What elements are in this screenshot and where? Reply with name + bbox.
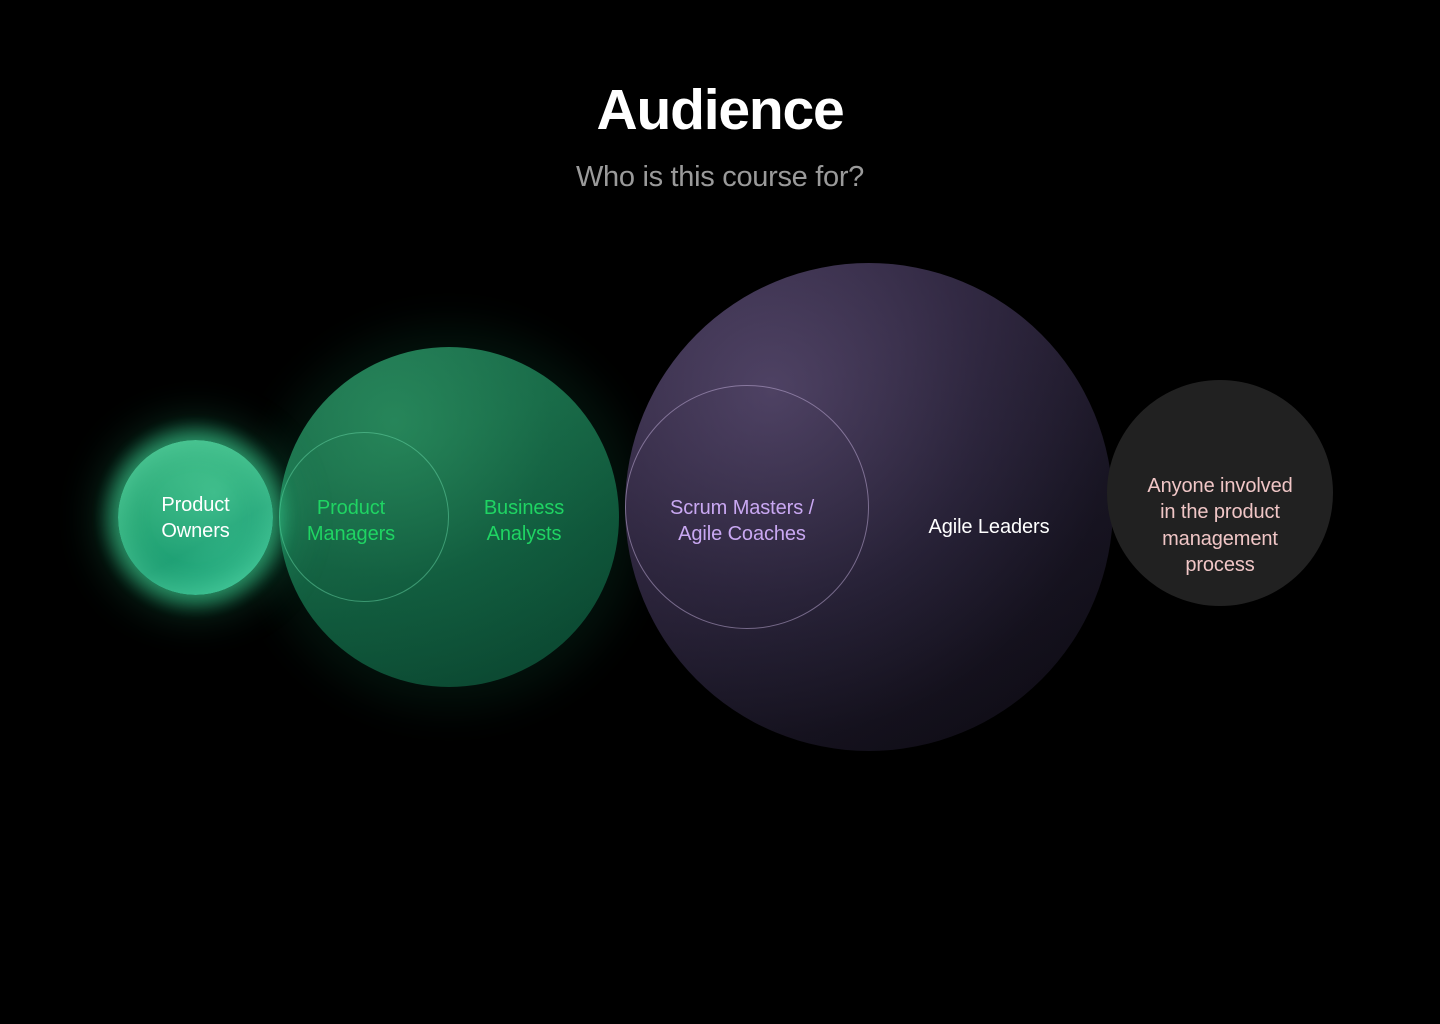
audience-diagram: Product Owners Product Managers Business…: [0, 0, 1440, 1024]
label-anyone-involved: Anyone involved in the product managemen…: [1113, 473, 1327, 579]
label-product-owners: Product Owners: [118, 492, 273, 545]
label-product-managers: Product Managers: [275, 495, 427, 548]
label-agile-leaders: Agile Leaders: [911, 514, 1067, 540]
label-business-analysts: Business Analysts: [448, 495, 600, 548]
label-scrum-masters-agile-coaches: Scrum Masters / Agile Coaches: [664, 495, 820, 548]
